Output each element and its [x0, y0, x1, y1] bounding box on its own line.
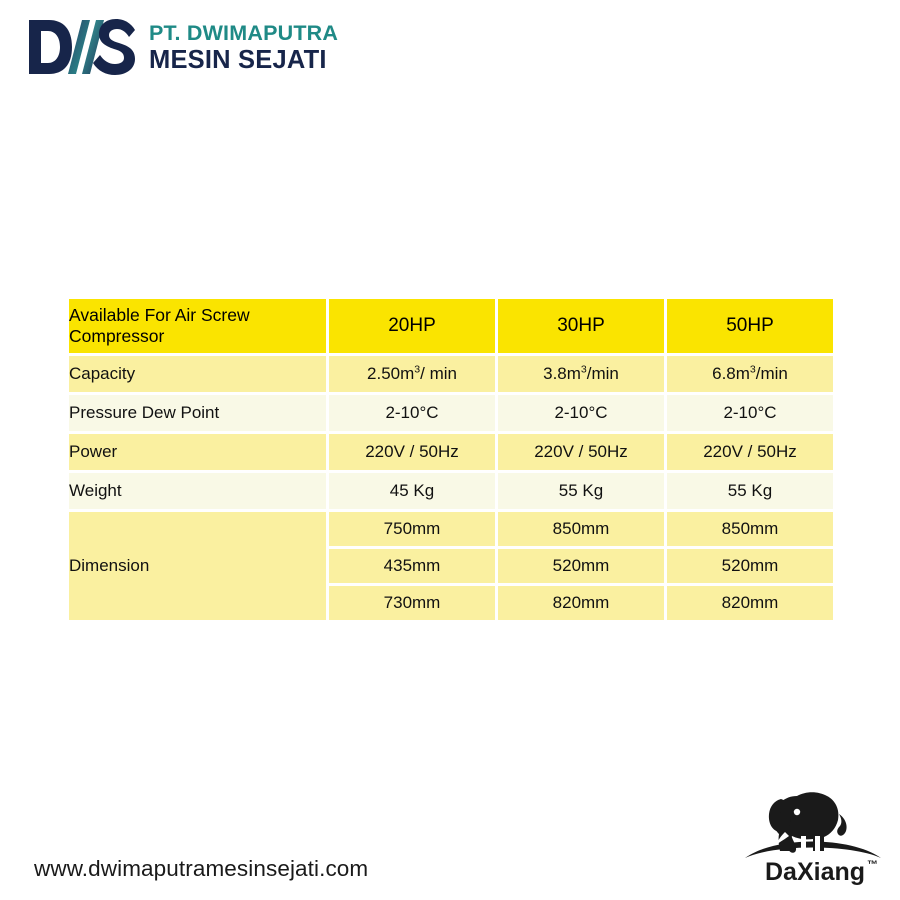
table-header-row: Available For Air Screw Compressor 20HP … — [69, 299, 833, 353]
cell-dimension-3-30hp: 820mm — [498, 586, 664, 620]
cell-power-20hp: 220V / 50Hz — [329, 434, 495, 470]
elephant-icon: DaXiang ™ — [735, 774, 890, 886]
row-label-power: Power — [69, 434, 326, 470]
cell-capacity-30hp: 3.8m3/min — [498, 356, 664, 392]
cell-dimension-2-50hp: 520mm — [667, 549, 833, 583]
row-label-dimension: Dimension — [69, 512, 326, 620]
cell-dimension-3-50hp: 820mm — [667, 586, 833, 620]
cell-dimension-2-20hp: 435mm — [329, 549, 495, 583]
trademark-symbol: ™ — [867, 859, 878, 871]
cell-dimension-1-30hp: 850mm — [498, 512, 664, 546]
cell-dimension-1-20hp: 750mm — [329, 512, 495, 546]
table-row: Pressure Dew Point 2-10°C 2-10°C 2-10°C — [69, 395, 833, 431]
brand-line-2: MESIN SEJATI — [149, 48, 338, 74]
row-label-weight: Weight — [69, 473, 326, 509]
cell-pressure-50hp: 2-10°C — [667, 395, 833, 431]
row-label-capacity: Capacity — [69, 356, 326, 392]
cell-power-30hp: 220V / 50Hz — [498, 434, 664, 470]
table-row: Dimension 750mm 850mm 850mm — [69, 512, 833, 546]
daxiang-wordmark: DaXiang — [765, 858, 865, 886]
specification-table: Available For Air Screw Compressor 20HP … — [66, 296, 836, 623]
cell-capacity-20hp: 2.50m3/ min — [329, 356, 495, 392]
cell-weight-30hp: 55 Kg — [498, 473, 664, 509]
cell-weight-20hp: 45 Kg — [329, 473, 495, 509]
brand-line-1: PT. DWIMAPUTRA — [149, 23, 338, 45]
table-row: Power 220V / 50Hz 220V / 50Hz 220V / 50H… — [69, 434, 833, 470]
dms-monogram-icon — [27, 18, 139, 76]
website-url: www.dwimaputramesinsejati.com — [34, 856, 368, 882]
table-row: Weight 45 Kg 55 Kg 55 Kg — [69, 473, 833, 509]
header-title-cell: Available For Air Screw Compressor — [69, 299, 326, 353]
header-col-30hp: 30HP — [498, 299, 664, 353]
cell-weight-50hp: 55 Kg — [667, 473, 833, 509]
daxiang-logo: DaXiang ™ — [735, 774, 890, 886]
cell-pressure-20hp: 2-10°C — [329, 395, 495, 431]
row-label-pressure-dew-point: Pressure Dew Point — [69, 395, 326, 431]
cell-dimension-2-30hp: 520mm — [498, 549, 664, 583]
header-col-20hp: 20HP — [329, 299, 495, 353]
table-row: Capacity 2.50m3/ min 3.8m3/min 6.8m3/min — [69, 356, 833, 392]
cell-power-50hp: 220V / 50Hz — [667, 434, 833, 470]
cell-dimension-3-20hp: 730mm — [329, 586, 495, 620]
header-col-50hp: 50HP — [667, 299, 833, 353]
company-logo: PT. DWIMAPUTRA MESIN SEJATI — [27, 18, 338, 76]
cell-pressure-30hp: 2-10°C — [498, 395, 664, 431]
cell-dimension-1-50hp: 850mm — [667, 512, 833, 546]
cell-capacity-50hp: 6.8m3/min — [667, 356, 833, 392]
